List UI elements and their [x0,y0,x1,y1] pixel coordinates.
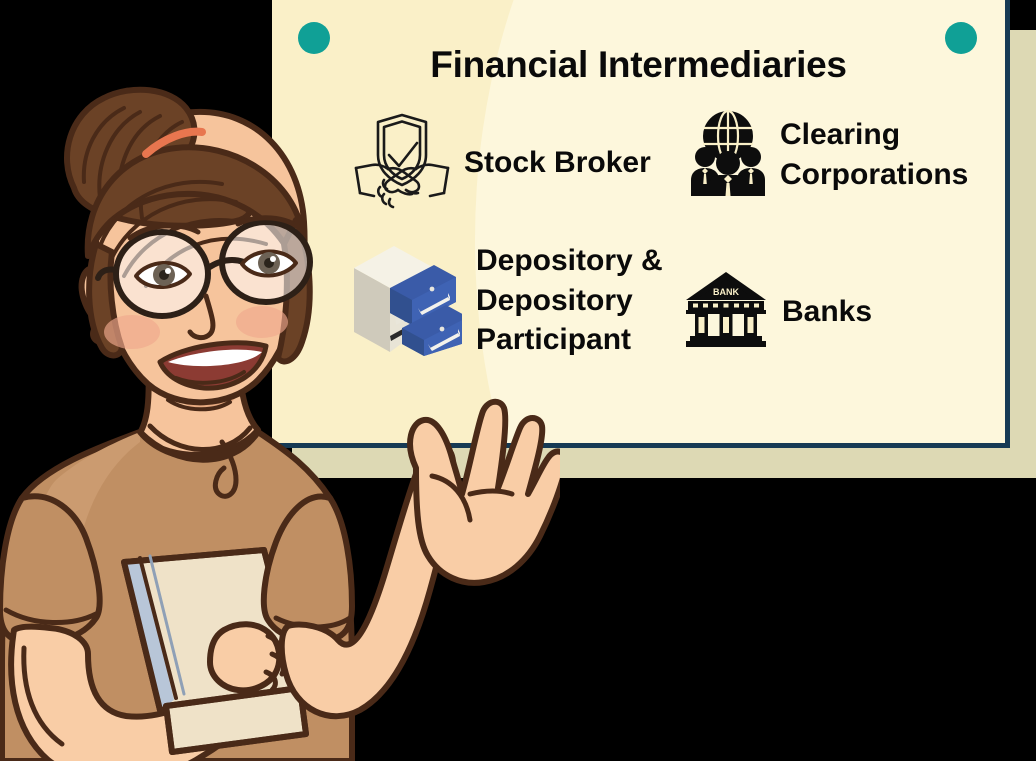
hand-open-presenting [410,402,560,583]
globe-people-icon [690,108,766,201]
list-item-label: Banks [782,292,872,332]
list-item-clearing-corporations[interactable]: Clearing Corporations [690,108,968,201]
bank-pediment-text: BANK [713,287,739,297]
presenter-woman [0,70,560,761]
list-item-label: Clearing Corporations [780,115,968,195]
bank-building-icon: BANK [684,270,768,353]
scene-root: Financial Intermediaries [0,0,1036,761]
list-item-banks[interactable]: BANK [684,270,872,353]
